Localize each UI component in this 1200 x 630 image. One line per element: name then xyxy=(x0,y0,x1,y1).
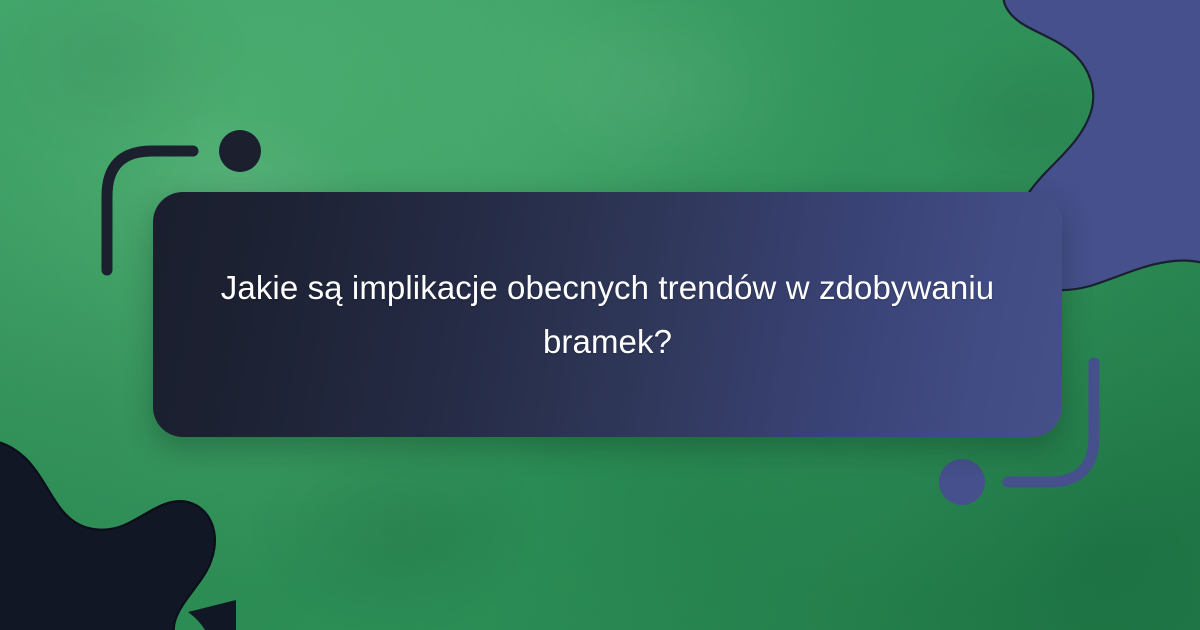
question-text: Jakie są implikacje obecnych trendów w z… xyxy=(211,261,1004,368)
dot-top-left-icon xyxy=(219,130,261,172)
social-card-canvas: Jakie są implikacje obecnych trendów w z… xyxy=(0,0,1200,630)
question-card: Jakie są implikacje obecnych trendów w z… xyxy=(153,192,1062,437)
dot-bottom-right-icon xyxy=(939,459,985,505)
